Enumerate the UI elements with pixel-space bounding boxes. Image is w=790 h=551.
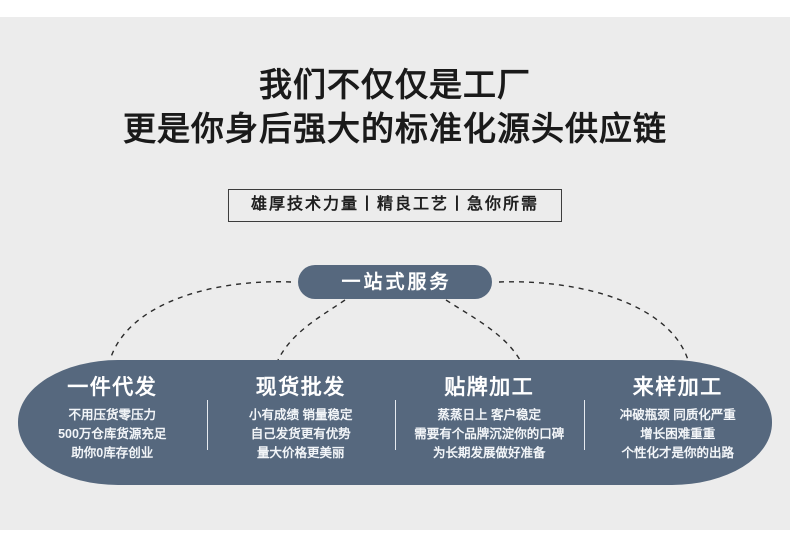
service-banner: 一件代发 不用压货零压力 500万仓库货源充足 助你0库存创业 现货批发 小有成… <box>18 360 772 485</box>
service-line: 助你0库存创业 <box>18 444 207 463</box>
service-lines: 小有成绩 销量稳定 自己发货更有优势 量大价格更美丽 <box>207 406 396 463</box>
service-line: 量大价格更美丽 <box>207 444 396 463</box>
service-line: 冲破瓶颈 同质化严重 <box>584 406 773 425</box>
service-line: 个性化才是你的出路 <box>584 444 773 463</box>
service-title: 现货批发 <box>207 375 396 401</box>
service-line: 增长困难重重 <box>584 425 773 444</box>
connector-curve-1 <box>110 282 291 360</box>
connector-curve-4 <box>499 282 688 360</box>
service-line: 蒸蒸日上 客户稳定 <box>395 406 584 425</box>
subtitle-box: 雄厚技术力量丨精良工艺丨急你所需 <box>228 189 562 222</box>
service-line: 自己发货更有优势 <box>207 425 396 444</box>
headline-primary: 我们不仅仅是工厂 <box>0 63 790 107</box>
service-title: 贴牌加工 <box>395 375 584 401</box>
service-lines: 蒸蒸日上 客户稳定 需要有个品牌沉淀你的口碑 为长期发展做好准备 <box>395 406 584 463</box>
service-title: 一件代发 <box>18 375 207 401</box>
headline-secondary: 更是你身后强大的标准化源头供应链 <box>0 107 790 151</box>
hub-pill[interactable]: 一站式服务 <box>298 265 492 299</box>
promo-banner-graphic: 我们不仅仅是工厂 更是你身后强大的标准化源头供应链 雄厚技术力量丨精良工艺丨急你… <box>0 0 790 551</box>
service-line: 不用压货零压力 <box>18 406 207 425</box>
service-column-2[interactable]: 现货批发 小有成绩 销量稳定 自己发货更有优势 量大价格更美丽 <box>207 360 396 463</box>
service-title: 来样加工 <box>584 375 773 401</box>
headline-group: 我们不仅仅是工厂 更是你身后强大的标准化源头供应链 <box>0 63 790 150</box>
connector-curve-3 <box>446 300 520 360</box>
service-line: 小有成绩 销量稳定 <box>207 406 396 425</box>
service-column-3[interactable]: 贴牌加工 蒸蒸日上 客户稳定 需要有个品牌沉淀你的口碑 为长期发展做好准备 <box>395 360 584 463</box>
subtitle-text: 雄厚技术力量丨精良工艺丨急你所需 <box>251 197 539 213</box>
hub-pill-label: 一站式服务 <box>338 273 451 292</box>
service-lines: 不用压货零压力 500万仓库货源充足 助你0库存创业 <box>18 406 207 463</box>
connector-curve-2 <box>278 300 345 360</box>
service-column-4[interactable]: 来样加工 冲破瓶颈 同质化严重 增长困难重重 个性化才是你的出路 <box>584 360 773 463</box>
service-column-1[interactable]: 一件代发 不用压货零压力 500万仓库货源充足 助你0库存创业 <box>18 360 207 463</box>
content-panel: 我们不仅仅是工厂 更是你身后强大的标准化源头供应链 雄厚技术力量丨精良工艺丨急你… <box>0 17 790 530</box>
service-lines: 冲破瓶颈 同质化严重 增长困难重重 个性化才是你的出路 <box>584 406 773 463</box>
service-line: 500万仓库货源充足 <box>18 425 207 444</box>
service-line: 需要有个品牌沉淀你的口碑 <box>395 425 584 444</box>
service-line: 为长期发展做好准备 <box>395 444 584 463</box>
